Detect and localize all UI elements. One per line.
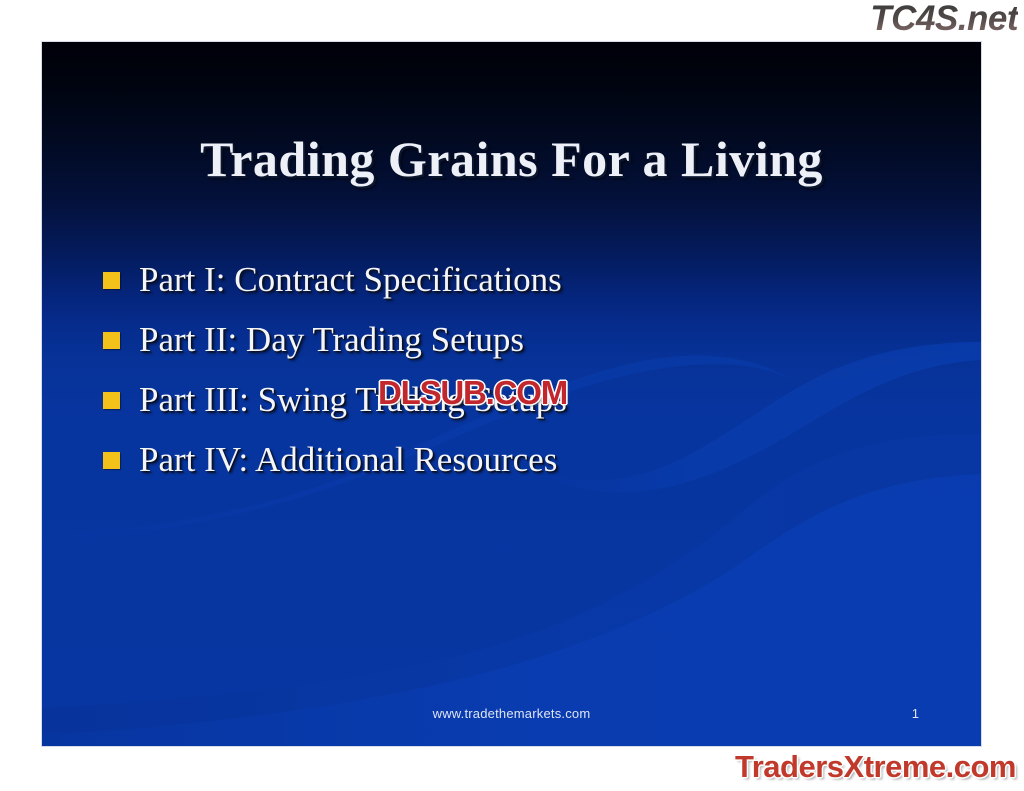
bullet-item-label: Part I: Contract Specifications bbox=[139, 259, 960, 301]
bullet-item-label: Part II: Day Trading Setups bbox=[139, 319, 960, 361]
list-item[interactable]: Part IV: Additional Resources bbox=[100, 430, 960, 490]
slide-footer: www.tradethemarkets.com 1 bbox=[42, 706, 981, 726]
bullet-square-icon bbox=[103, 392, 120, 409]
bullet-square-icon bbox=[103, 332, 120, 349]
slide-page-number: 1 bbox=[912, 706, 919, 721]
bullet-list: Part I: Contract Specifications Part II:… bbox=[100, 250, 960, 490]
slide-title: Trading Grains For a Living bbox=[42, 130, 981, 188]
list-item[interactable]: Part II: Day Trading Setups bbox=[100, 310, 960, 370]
page-canvas: TC4S.net TC4S.net bbox=[0, 0, 1024, 791]
footer-url: www.tradethemarkets.com bbox=[42, 706, 981, 721]
bullet-square-icon bbox=[103, 452, 120, 469]
bullet-item-label: Part IV: Additional Resources bbox=[139, 439, 960, 481]
watermark-center-overlay: DLSUB.COM bbox=[378, 374, 567, 412]
watermark-top-right: TC4S.net bbox=[870, 0, 1018, 38]
watermark-bottom-right: TradersXtreme.com bbox=[735, 749, 1016, 785]
list-item[interactable]: Part I: Contract Specifications bbox=[100, 250, 960, 310]
bullet-square-icon bbox=[103, 272, 120, 289]
